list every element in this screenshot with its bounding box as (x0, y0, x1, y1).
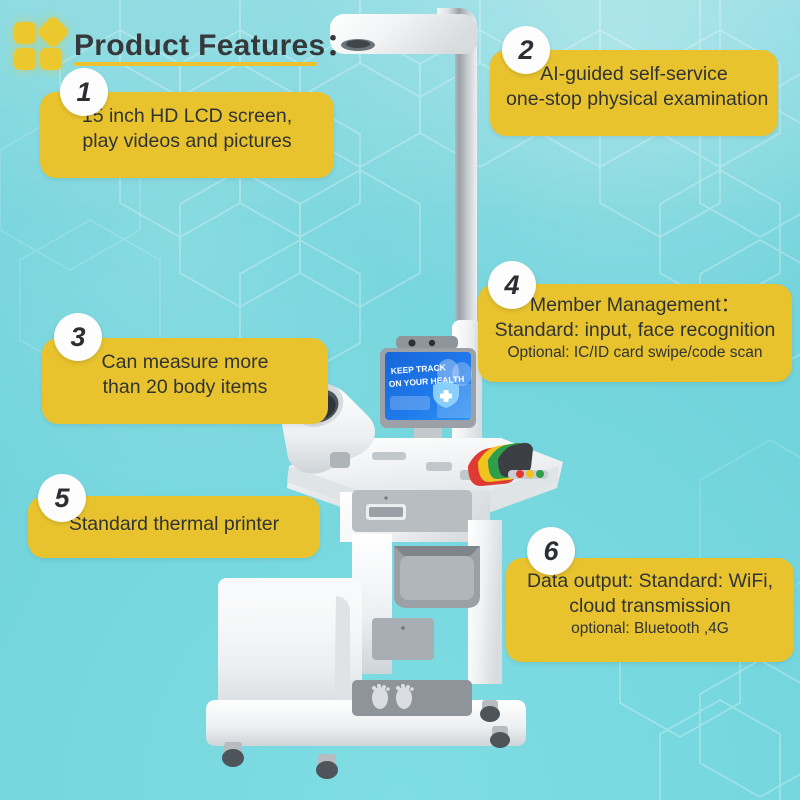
callout-6-line-3: optional: Bluetooth ,4G (522, 619, 778, 639)
callout-2-line-1: AI-guided self-service (506, 62, 762, 87)
feature-badge-2: 2 (502, 26, 550, 74)
four-squares-logo-icon (14, 18, 70, 72)
callout-4-line-2: Standard: input, face recognition (494, 318, 776, 343)
feature-badge-1: 1 (60, 68, 108, 116)
callout-3-line-2: than 20 body items (58, 375, 312, 400)
page-title: Product Features： (74, 20, 356, 64)
svg-text:ON YOUR HEALTH: ON YOUR HEALTH (388, 374, 464, 389)
feature-badge-4: 4 (488, 261, 536, 309)
feature-badge-3: 3 (54, 313, 102, 361)
feature-badge-6: 6 (527, 527, 575, 575)
svg-text:KEEP TRACK: KEEP TRACK (390, 362, 447, 376)
logo-square-bottom-right (40, 48, 62, 70)
logo-square-bottom-left (14, 48, 36, 70)
logo-square-top-left (14, 22, 36, 44)
callout-1-line-2: play videos and pictures (56, 129, 318, 154)
callout-5-line-1: Standard thermal printer (44, 512, 304, 537)
infographic-canvas: KEEP TRACK ON YOUR HEALTH (0, 0, 800, 800)
feature-badge-5: 5 (38, 474, 86, 522)
logo-diamond-top-right (36, 15, 70, 49)
title-underline (74, 62, 317, 66)
callout-3-line-1: Can measure more (58, 350, 312, 375)
callout-4-line-1: Member Management： (494, 293, 776, 318)
callout-2-line-2: one-stop physical examination (506, 87, 762, 112)
callout-6-line-2: cloud transmission (522, 594, 778, 619)
callout-4-line-3: Optional: IC/ID card swipe/code scan (494, 343, 776, 363)
